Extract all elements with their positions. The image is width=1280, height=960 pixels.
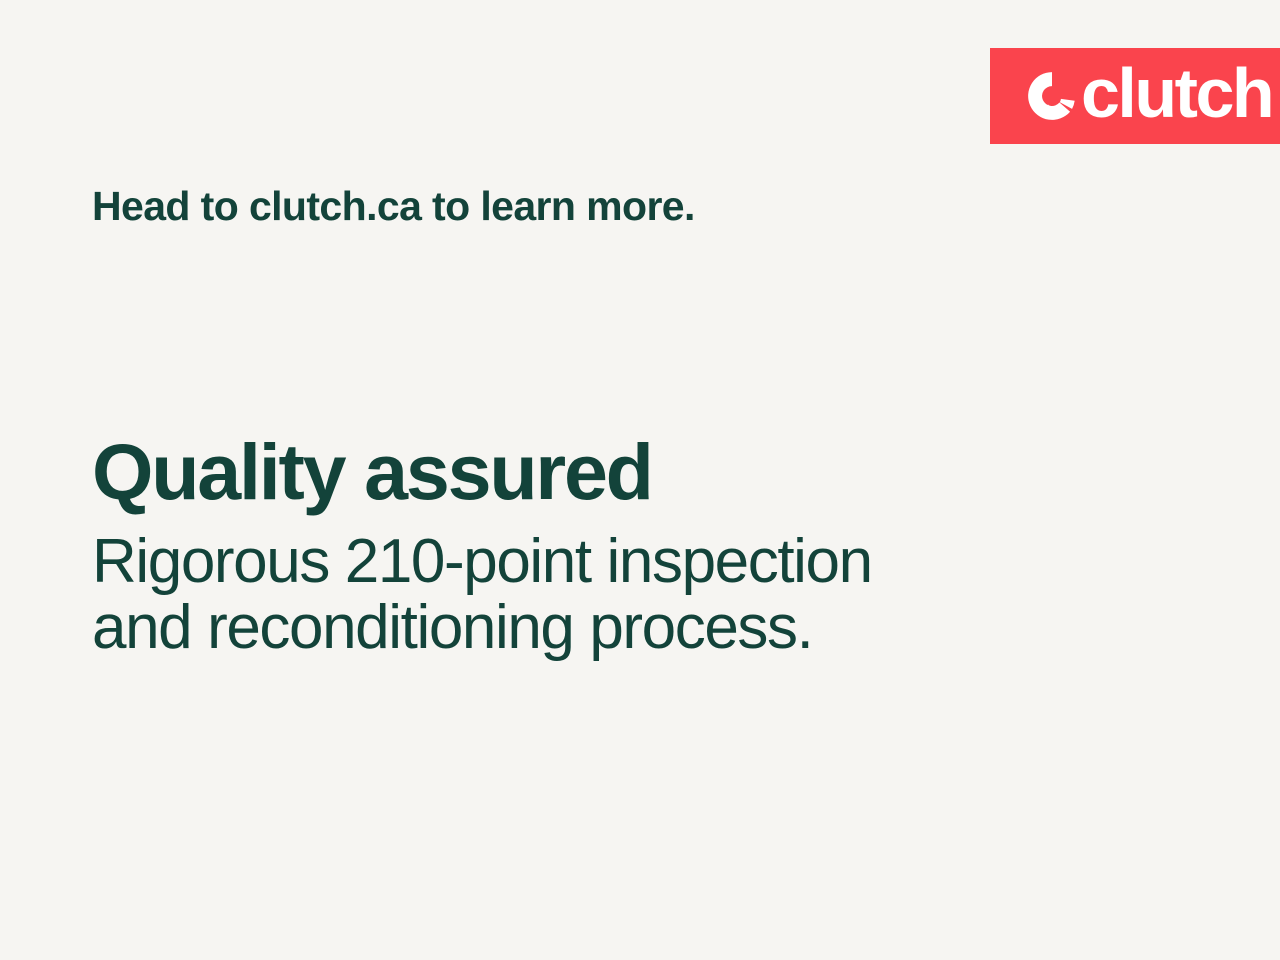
clutch-c-wheel-icon [1026, 70, 1078, 122]
headline: Quality assured [92, 432, 1072, 511]
eyebrow-text: Head to clutch.ca to learn more. [92, 182, 695, 230]
subheadline-line-1: Rigorous 210-point inspection [92, 529, 932, 595]
brand-banner: clutch [990, 48, 1280, 144]
message-block: Quality assured Rigorous 210-point inspe… [92, 432, 1072, 660]
subheadline: Rigorous 210-point inspection and recond… [92, 529, 932, 660]
subheadline-line-2: and reconditioning process. [92, 595, 932, 661]
brand-lockup: clutch [1026, 61, 1272, 131]
brand-wordmark: clutch [1081, 58, 1272, 128]
slide-canvas: clutch Head to clutch.ca to learn more. … [0, 0, 1280, 960]
